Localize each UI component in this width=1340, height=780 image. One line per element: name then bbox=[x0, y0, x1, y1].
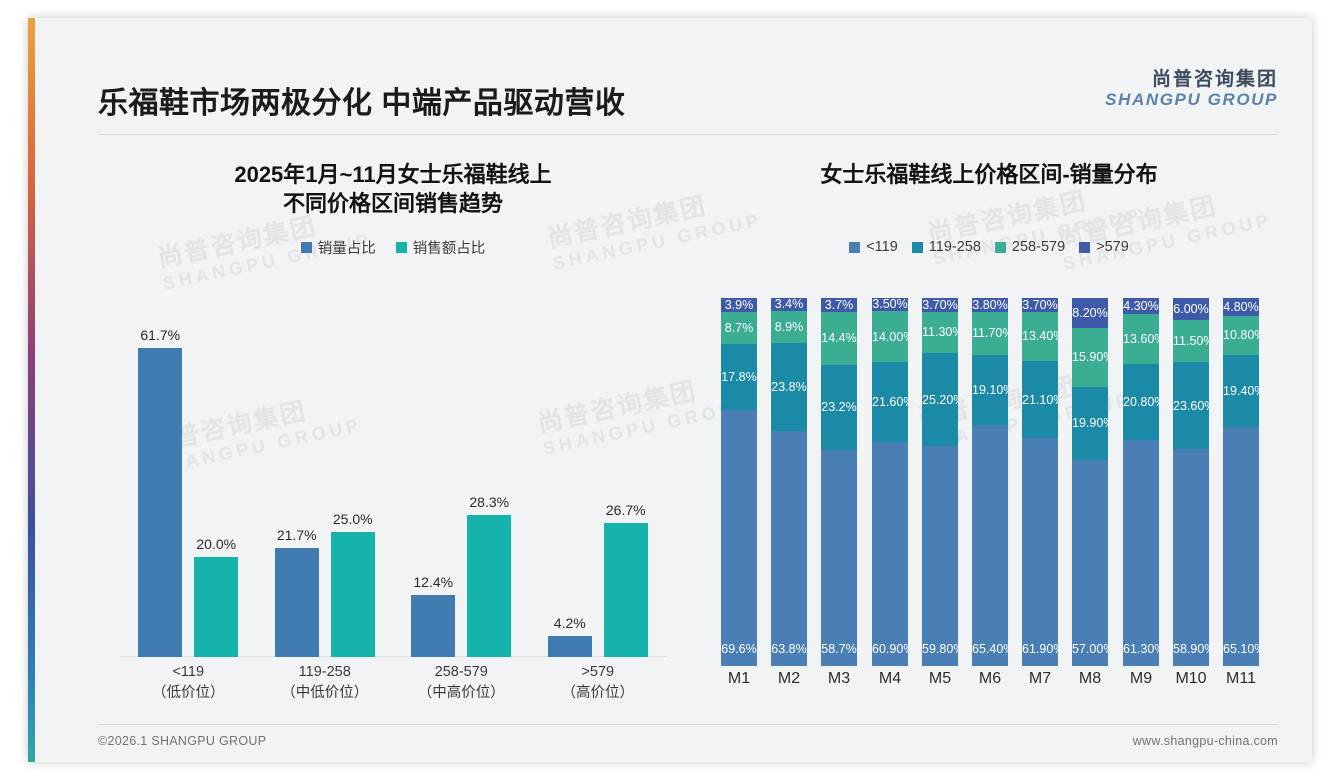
stack-segment[interactable]: 10.80% bbox=[1223, 316, 1259, 356]
stack-segment-label: 23.8% bbox=[771, 380, 807, 394]
bar-rect[interactable] bbox=[548, 636, 592, 657]
stack-segment-label: 11.70% bbox=[972, 326, 1008, 340]
x-tick-sub: （高价位） bbox=[530, 683, 667, 704]
stack-segment-label: 69.6% bbox=[721, 642, 757, 656]
x-tick-main: 258-579 bbox=[435, 664, 488, 680]
stack-segment-label: 25.20% bbox=[922, 393, 958, 407]
stack-segment[interactable]: 21.60% bbox=[872, 362, 908, 441]
bar-rect[interactable] bbox=[138, 348, 182, 657]
stack-segment-label: 63.8% bbox=[771, 642, 807, 656]
stack-segment[interactable]: 17.8% bbox=[721, 344, 757, 410]
stack-segment-label: 57.00% bbox=[1072, 642, 1108, 656]
legend-swatch-icon bbox=[396, 242, 407, 253]
stack-segment-label: 4.30% bbox=[1123, 299, 1159, 313]
stack-segment[interactable]: 23.60% bbox=[1173, 362, 1209, 449]
stack-segment[interactable]: 11.70% bbox=[972, 312, 1008, 355]
x-axis-tick-label: M4 bbox=[868, 670, 912, 688]
bar-value-label: 4.2% bbox=[554, 615, 586, 631]
stack-segment-label: 20.80% bbox=[1123, 395, 1159, 409]
header-divider bbox=[98, 134, 1278, 135]
stack-segment[interactable]: 15.90% bbox=[1072, 328, 1108, 387]
bar-value-label: 21.7% bbox=[277, 527, 317, 543]
stack-segment[interactable]: 69.6% bbox=[721, 410, 757, 666]
bar-column[interactable]: 21.7% bbox=[275, 302, 319, 657]
bar-column[interactable]: 25.0% bbox=[331, 302, 375, 657]
left-chart-panel: 2025年1月~11月女士乐福鞋线上 不同价格区间销售趋势 销量占比 销售额占比… bbox=[98, 154, 688, 710]
x-axis-tick-label: 119-258（中低价位） bbox=[257, 662, 394, 704]
stack-segment[interactable]: 57.00% bbox=[1072, 460, 1108, 666]
stack-segment-label: 65.40% bbox=[972, 642, 1008, 656]
stack-segment-label: 3.80% bbox=[972, 298, 1008, 312]
right-chart-title-text: 女士乐福鞋线上价格区间-销量分布 bbox=[700, 160, 1278, 189]
stack-segment[interactable]: 3.70% bbox=[1022, 298, 1058, 312]
x-tick-main: 119-258 bbox=[299, 664, 351, 680]
legend-swatch-icon bbox=[995, 242, 1006, 253]
stack-segment-label: 59.80% bbox=[922, 642, 958, 656]
x-tick-sub: （中高价位） bbox=[393, 683, 530, 704]
x-tick-sub: （低价位） bbox=[120, 683, 257, 704]
stacked-bar[interactable]: 6.00%11.50%23.60%58.90% bbox=[1173, 298, 1209, 666]
stack-segment-label: 3.7% bbox=[821, 298, 857, 312]
x-axis-tick-label: M8 bbox=[1068, 670, 1112, 688]
stack-segment-label: 15.90% bbox=[1072, 350, 1108, 364]
stack-segment[interactable]: 60.90% bbox=[872, 442, 908, 666]
stack-segment[interactable]: 19.40% bbox=[1223, 355, 1259, 426]
left-chart-title: 2025年1月~11月女士乐福鞋线上 不同价格区间销售趋势 bbox=[98, 154, 688, 219]
bar-value-label: 20.0% bbox=[196, 536, 236, 552]
stack-segment[interactable]: 61.30% bbox=[1123, 440, 1159, 666]
left-chart-title-line2: 不同价格区间销售趋势 bbox=[98, 189, 688, 218]
stacked-bar[interactable]: 3.7%14.4%23.2%58.7% bbox=[821, 298, 857, 666]
bar-value-label: 25.0% bbox=[333, 511, 373, 527]
stacked-bar[interactable]: 4.30%13.60%20.80%61.30% bbox=[1123, 298, 1159, 666]
stack-segment-label: 3.50% bbox=[872, 297, 908, 311]
stack-segment-label: 14.00% bbox=[872, 330, 908, 344]
legend-item-579[interactable]: >579 bbox=[1079, 239, 1129, 255]
bar-column[interactable]: 4.2% bbox=[548, 302, 592, 657]
stack-segment[interactable]: 8.7% bbox=[721, 312, 757, 344]
page-title: 乐福鞋市场两极分化 中端产品驱动营收 bbox=[98, 78, 625, 122]
stack-segment[interactable]: 19.10% bbox=[972, 355, 1008, 425]
right-chart-legend: <119119-258258-579>579 bbox=[700, 238, 1278, 256]
footer-divider bbox=[98, 724, 1278, 725]
legend-item-258-579[interactable]: 258-579 bbox=[995, 239, 1065, 255]
stack-segment[interactable]: 58.7% bbox=[821, 450, 857, 666]
x-axis-tick-label: M6 bbox=[968, 670, 1012, 688]
bar-column[interactable]: 61.7% bbox=[138, 302, 182, 657]
x-axis-tick-label: 258-579（中高价位） bbox=[393, 662, 530, 704]
stack-segment-label: 19.90% bbox=[1072, 416, 1108, 430]
slide-canvas: 尚普咨询集团 SHANGPU GROUP 尚普咨询集团 SHANGPU GROU… bbox=[28, 18, 1312, 762]
stacked-chart-x-axis: M1M2M3M4M5M6M7M8M9M10M11 bbox=[714, 670, 1266, 700]
stack-segment-label: 4.80% bbox=[1223, 300, 1259, 314]
stack-segment-label: 23.60% bbox=[1173, 399, 1209, 413]
stack-segment[interactable]: 4.30% bbox=[1123, 298, 1159, 314]
stack-segment-label: 10.80% bbox=[1223, 328, 1259, 342]
brand-name-cn: 尚普咨询集团 bbox=[1105, 70, 1278, 90]
bar-group: 21.7%25.0% bbox=[257, 302, 394, 657]
x-axis-tick-label: M11 bbox=[1219, 670, 1263, 688]
slide-header: 乐福鞋市场两极分化 中端产品驱动营收 尚普咨询集团 SHANGPU GROUP bbox=[98, 62, 1278, 134]
stacked-bar[interactable]: 3.70%11.30%25.20%59.80% bbox=[922, 298, 958, 666]
brand-logo: 尚普咨询集团 SHANGPU GROUP bbox=[1105, 70, 1278, 109]
stack-segment[interactable]: 11.30% bbox=[922, 312, 958, 354]
x-tick-main: <119 bbox=[172, 664, 204, 680]
x-axis-tick-label: M1 bbox=[717, 670, 761, 688]
stack-segment[interactable]: 63.8% bbox=[771, 431, 807, 666]
stack-segment[interactable]: 19.90% bbox=[1072, 387, 1108, 460]
bar-value-label: 61.7% bbox=[140, 327, 180, 343]
bar-value-label: 12.4% bbox=[413, 574, 453, 590]
x-axis-tick-label: <119（低价位） bbox=[120, 662, 257, 704]
x-axis-tick-label: M5 bbox=[918, 670, 962, 688]
stack-segment[interactable]: 23.8% bbox=[771, 343, 807, 431]
stack-segment-label: 11.50% bbox=[1173, 334, 1209, 348]
stack-segment-label: 8.7% bbox=[721, 321, 757, 335]
x-axis-tick-label: M3 bbox=[817, 670, 861, 688]
stack-segment[interactable]: 65.10% bbox=[1223, 427, 1259, 666]
stack-segment[interactable]: 13.40% bbox=[1022, 312, 1058, 361]
stack-segment[interactable]: 59.80% bbox=[922, 446, 958, 666]
stack-segment[interactable]: 25.20% bbox=[922, 353, 958, 446]
stack-segment[interactable]: 3.50% bbox=[872, 298, 908, 311]
legend-label: >579 bbox=[1096, 239, 1129, 255]
bar-rect[interactable] bbox=[194, 557, 238, 657]
bar-column[interactable]: 28.3% bbox=[467, 302, 511, 657]
stack-segment[interactable]: 3.9% bbox=[721, 298, 757, 312]
stack-segment[interactable]: 8.9% bbox=[771, 311, 807, 344]
stack-segment[interactable]: 14.00% bbox=[872, 311, 908, 363]
bar-value-label: 28.3% bbox=[469, 494, 509, 510]
legend-item-119[interactable]: <119 bbox=[849, 239, 898, 255]
bar-column[interactable]: 26.7% bbox=[604, 302, 648, 657]
legend-label: <119 bbox=[866, 239, 898, 255]
bar-group: 61.7%20.0% bbox=[120, 302, 257, 657]
stacked-bar[interactable]: 3.9%8.7%17.8%69.6% bbox=[721, 298, 757, 666]
stack-segment[interactable]: 23.2% bbox=[821, 365, 857, 450]
stacked-bar[interactable]: 3.80%11.70%19.10%65.40% bbox=[972, 298, 1008, 666]
stacked-bar[interactable]: 3.4%8.9%23.8%63.8% bbox=[771, 298, 807, 666]
legend-swatch-icon bbox=[1079, 242, 1090, 253]
footer-website[interactable]: www.shangpu-china.com bbox=[1133, 734, 1278, 748]
x-axis-tick-label: M2 bbox=[767, 670, 811, 688]
stack-segment[interactable]: 3.80% bbox=[972, 298, 1008, 312]
grouped-bar-chart: 61.7%20.0%21.7%25.0%12.4%28.3%4.2%26.7% bbox=[120, 302, 666, 657]
x-axis-tick-label: >579（高价位） bbox=[530, 662, 667, 704]
x-tick-sub: （中低价位） bbox=[257, 683, 394, 704]
x-axis-tick-label: M7 bbox=[1018, 670, 1062, 688]
stack-segment-label: 8.9% bbox=[771, 320, 807, 334]
stack-segment-label: 3.70% bbox=[1022, 298, 1058, 312]
stack-segment-label: 3.70% bbox=[922, 298, 958, 312]
legend-label: 258-579 bbox=[1012, 239, 1065, 255]
legend-item-volume[interactable]: 销量占比 bbox=[301, 237, 376, 258]
x-axis-tick-label: M9 bbox=[1119, 670, 1163, 688]
stack-segment[interactable]: 11.50% bbox=[1173, 320, 1209, 362]
stack-segment[interactable]: 3.70% bbox=[922, 298, 958, 312]
stacked-bar[interactable]: 4.80%10.80%19.40%65.10% bbox=[1223, 298, 1259, 666]
stacked-bar[interactable]: 3.70%13.40%21.10%61.90% bbox=[1022, 298, 1058, 666]
stack-segment[interactable]: 58.90% bbox=[1173, 449, 1209, 666]
stack-segment-label: 17.8% bbox=[721, 370, 757, 384]
grouped-chart-x-axis: <119（低价位）119-258（中低价位）258-579（中高价位）>579（… bbox=[120, 662, 666, 714]
stack-segment-label: 8.20% bbox=[1072, 306, 1108, 320]
legend-item-119-258[interactable]: 119-258 bbox=[912, 239, 981, 255]
footer-copyright: ©2026.1 SHANGPU GROUP bbox=[98, 734, 266, 748]
stack-segment-label: 13.60% bbox=[1123, 332, 1159, 346]
legend-swatch-icon bbox=[849, 242, 860, 253]
stack-segment[interactable]: 3.7% bbox=[821, 298, 857, 312]
bar-rect[interactable] bbox=[467, 515, 511, 657]
legend-swatch-icon bbox=[912, 242, 923, 253]
stack-segment-label: 19.10% bbox=[972, 383, 1008, 397]
bar-column[interactable]: 20.0% bbox=[194, 302, 238, 657]
stack-segment[interactable]: 14.4% bbox=[821, 312, 857, 365]
stack-segment-label: 58.7% bbox=[821, 642, 857, 656]
bar-rect[interactable] bbox=[331, 532, 375, 657]
stack-segment[interactable]: 4.80% bbox=[1223, 298, 1259, 316]
stacked-bar[interactable]: 8.20%15.90%19.90%57.00% bbox=[1072, 298, 1108, 666]
x-tick-main: >579 bbox=[581, 664, 614, 680]
stack-segment[interactable]: 61.90% bbox=[1022, 438, 1058, 666]
stack-segment[interactable]: 13.60% bbox=[1123, 314, 1159, 364]
x-axis-tick-label: M10 bbox=[1169, 670, 1213, 688]
right-chart-panel: 女士乐福鞋线上价格区间-销量分布 <119119-258258-579>579 … bbox=[700, 154, 1278, 710]
stack-segment-label: 19.40% bbox=[1223, 384, 1259, 398]
bar-rect[interactable] bbox=[604, 523, 648, 657]
accent-edge-strip bbox=[28, 18, 35, 762]
stack-segment-label: 23.2% bbox=[821, 400, 857, 414]
stack-segment[interactable]: 3.4% bbox=[771, 298, 807, 311]
bar-value-label: 26.7% bbox=[606, 502, 646, 518]
stack-segment-label: 60.90% bbox=[872, 642, 908, 656]
stack-segment-label: 21.10% bbox=[1022, 393, 1058, 407]
stack-segment-label: 14.4% bbox=[821, 331, 857, 345]
stack-segment-label: 61.30% bbox=[1123, 642, 1159, 656]
legend-swatch-icon bbox=[301, 242, 312, 253]
stack-segment-label: 3.4% bbox=[771, 297, 807, 311]
stacked-bar-chart: 3.9%8.7%17.8%69.6%3.4%8.9%23.8%63.8%3.7%… bbox=[714, 298, 1266, 666]
stack-segment[interactable]: 20.80% bbox=[1123, 364, 1159, 441]
stack-segment[interactable]: 21.10% bbox=[1022, 361, 1058, 439]
stacked-bar[interactable]: 3.50%14.00%21.60%60.90% bbox=[872, 298, 908, 666]
left-chart-legend: 销量占比 销售额占比 bbox=[98, 239, 688, 257]
bar-rect[interactable] bbox=[411, 595, 455, 657]
stack-segment[interactable]: 6.00% bbox=[1173, 298, 1209, 320]
stack-segment-label: 6.00% bbox=[1173, 302, 1209, 316]
bar-column[interactable]: 12.4% bbox=[411, 302, 455, 657]
stack-segment-label: 13.40% bbox=[1022, 329, 1058, 343]
stack-segment-label: 65.10% bbox=[1223, 642, 1259, 656]
legend-label: 119-258 bbox=[929, 239, 981, 255]
legend-item-revenue[interactable]: 销售额占比 bbox=[396, 237, 486, 258]
legend-label: 销售额占比 bbox=[413, 237, 486, 258]
stack-segment-label: 3.9% bbox=[721, 298, 757, 312]
legend-label: 销量占比 bbox=[318, 237, 376, 258]
left-chart-title-line1: 2025年1月~11月女士乐福鞋线上 bbox=[98, 160, 688, 189]
bar-group: 4.2%26.7% bbox=[530, 302, 667, 657]
brand-name-en: SHANGPU GROUP bbox=[1105, 91, 1278, 109]
stack-segment[interactable]: 8.20% bbox=[1072, 298, 1108, 328]
stack-segment-label: 11.30% bbox=[922, 325, 958, 339]
right-chart-title: 女士乐福鞋线上价格区间-销量分布 bbox=[700, 154, 1278, 189]
stack-segment-label: 21.60% bbox=[872, 395, 908, 409]
bar-group: 12.4%28.3% bbox=[393, 302, 530, 657]
stack-segment-label: 58.90% bbox=[1173, 642, 1209, 656]
stack-segment[interactable]: 65.40% bbox=[972, 425, 1008, 666]
stack-segment-label: 61.90% bbox=[1022, 642, 1058, 656]
bar-rect[interactable] bbox=[275, 548, 319, 657]
